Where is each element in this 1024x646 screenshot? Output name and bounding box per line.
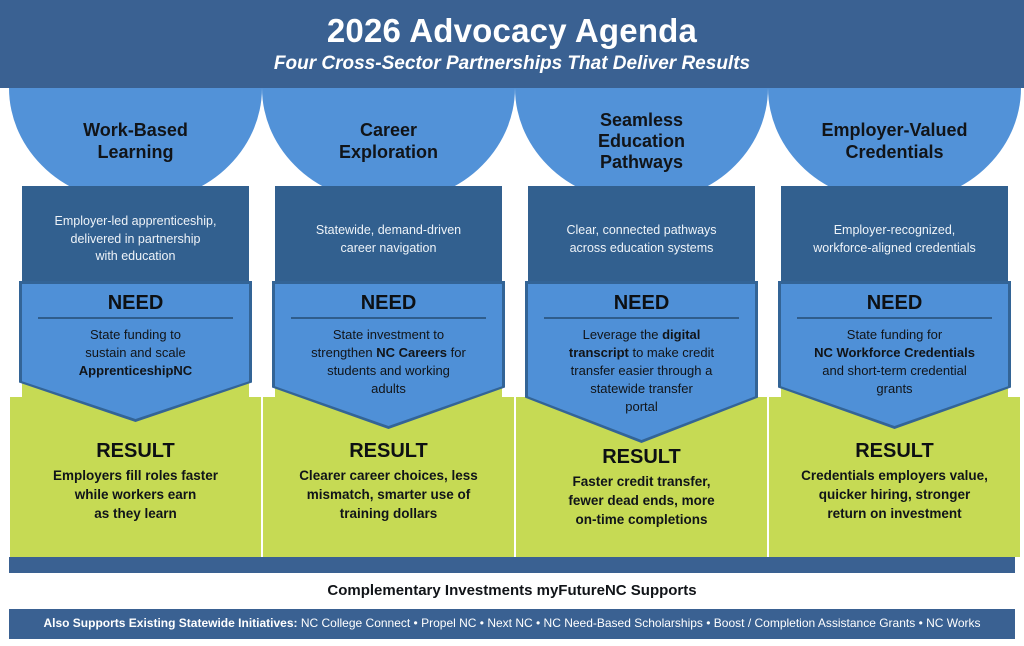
pillar-column-employer-valued-credentials: Employer-Valued Credentials Employer-rec…: [768, 88, 1021, 557]
pillar-description: Employer-led apprenticeship, delivered i…: [55, 213, 217, 266]
need-text: State investment tostrengthen NC Careers…: [289, 326, 488, 398]
pillar-title: Career Exploration: [339, 120, 438, 162]
need-label: NEED: [795, 292, 994, 314]
need-divider: [38, 317, 233, 319]
need-text: Leverage the digitaltranscript to make c…: [542, 326, 741, 416]
pillar-description-band: Clear, connected pathways across educati…: [528, 186, 755, 287]
pillar-title: Employer-Valued Credentials: [821, 120, 967, 162]
pillar-column-seamless-education-pathways: Seamless Education Pathways Clear, conne…: [515, 88, 768, 557]
page-title: 2026 Advocacy Agenda: [327, 14, 697, 49]
result-block: RESULT Faster credit transfer, fewer dea…: [516, 446, 767, 529]
pillar-title: Work-Based Learning: [83, 120, 188, 162]
result-label: RESULT: [273, 440, 504, 462]
need-divider: [544, 317, 739, 319]
result-label: RESULT: [526, 446, 757, 468]
pillar-description-band: Employer-recognized, workforce-aligned c…: [781, 186, 1008, 287]
result-block: RESULT Employers fill roles faster while…: [10, 440, 261, 523]
page-subtitle: Four Cross-Sector Partnerships That Deli…: [274, 54, 750, 74]
pillar-title: Seamless Education Pathways: [598, 110, 685, 174]
need-text: State funding tosustain and scaleApprent…: [36, 326, 235, 380]
advocacy-agenda-infographic: 2026 Advocacy Agenda Four Cross-Sector P…: [0, 0, 1024, 646]
footer-bar: Also Supports Existing Statewide Initiat…: [9, 609, 1015, 639]
result-text: Employers fill roles faster while worker…: [20, 466, 251, 523]
pillar-description-band: Employer-led apprenticeship, delivered i…: [22, 186, 249, 287]
result-label: RESULT: [779, 440, 1010, 462]
pillar-description: Employer-recognized, workforce-aligned c…: [813, 222, 976, 258]
result-block: RESULT Clearer career choices, less mism…: [263, 440, 514, 523]
need-divider: [291, 317, 486, 319]
footer-initiatives-text: Also Supports Existing Statewide Initiat…: [43, 617, 980, 630]
pillar-column-work-based-learning: Work-Based Learning Employer-led apprent…: [9, 88, 262, 557]
complementary-investments-strip: Complementary Investments myFutureNC Sup…: [0, 573, 1024, 607]
pillar-description: Statewide, demand-driven career navigati…: [316, 222, 461, 258]
pillar-columns: Work-Based Learning Employer-led apprent…: [0, 88, 1024, 557]
pillar-description-band: Statewide, demand-driven career navigati…: [275, 186, 502, 287]
complementary-investments-heading: Complementary Investments myFutureNC Sup…: [327, 582, 696, 599]
section-divider-bar: [9, 557, 1015, 573]
result-text: Faster credit transfer, fewer dead ends,…: [526, 472, 757, 529]
need-text: State funding forNC Workforce Credential…: [795, 326, 994, 398]
header-banner: 2026 Advocacy Agenda Four Cross-Sector P…: [0, 0, 1024, 88]
result-block: RESULT Credentials employers value, quic…: [769, 440, 1020, 523]
result-text: Credentials employers value, quicker hir…: [779, 466, 1010, 523]
result-label: RESULT: [20, 440, 251, 462]
need-divider: [797, 317, 992, 319]
pillar-column-career-exploration: Career Exploration Statewide, demand-dri…: [262, 88, 515, 557]
need-label: NEED: [289, 292, 488, 314]
need-label: NEED: [36, 292, 235, 314]
pillar-description: Clear, connected pathways across educati…: [566, 222, 716, 258]
need-label: NEED: [542, 292, 741, 314]
result-text: Clearer career choices, less mismatch, s…: [273, 466, 504, 523]
